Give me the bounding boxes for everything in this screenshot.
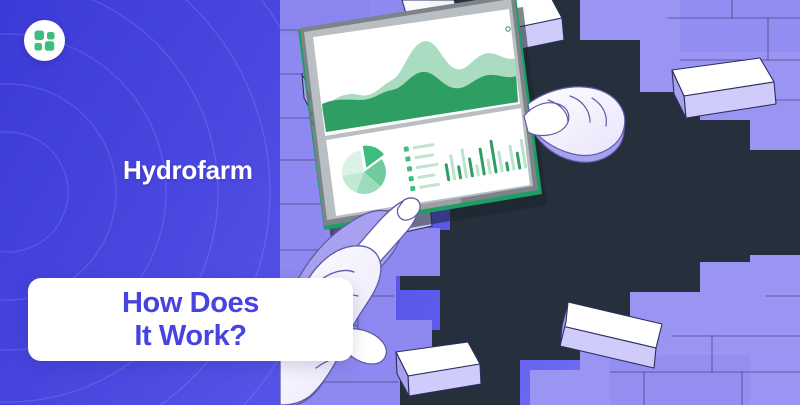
logo-grid-icon xyxy=(24,20,65,61)
logo-tile-bottom-left xyxy=(35,43,43,51)
headline-card: How Does It Work? xyxy=(28,278,353,361)
headline-text: How Does It Work? xyxy=(122,287,259,352)
headline-line-2: It Work? xyxy=(122,320,259,352)
hydrofarm-logo[interactable] xyxy=(24,20,65,61)
logo-tile-top-left xyxy=(35,31,45,41)
logo-tile-bottom-right xyxy=(45,41,55,51)
headline-line-1: How Does xyxy=(122,287,259,319)
logo-tile-top-right xyxy=(47,32,55,40)
illustration-scene xyxy=(280,0,800,405)
poster-canvas: Hydrofarm How Does It Work? xyxy=(0,0,800,405)
brand-name: Hydrofarm xyxy=(123,155,253,186)
